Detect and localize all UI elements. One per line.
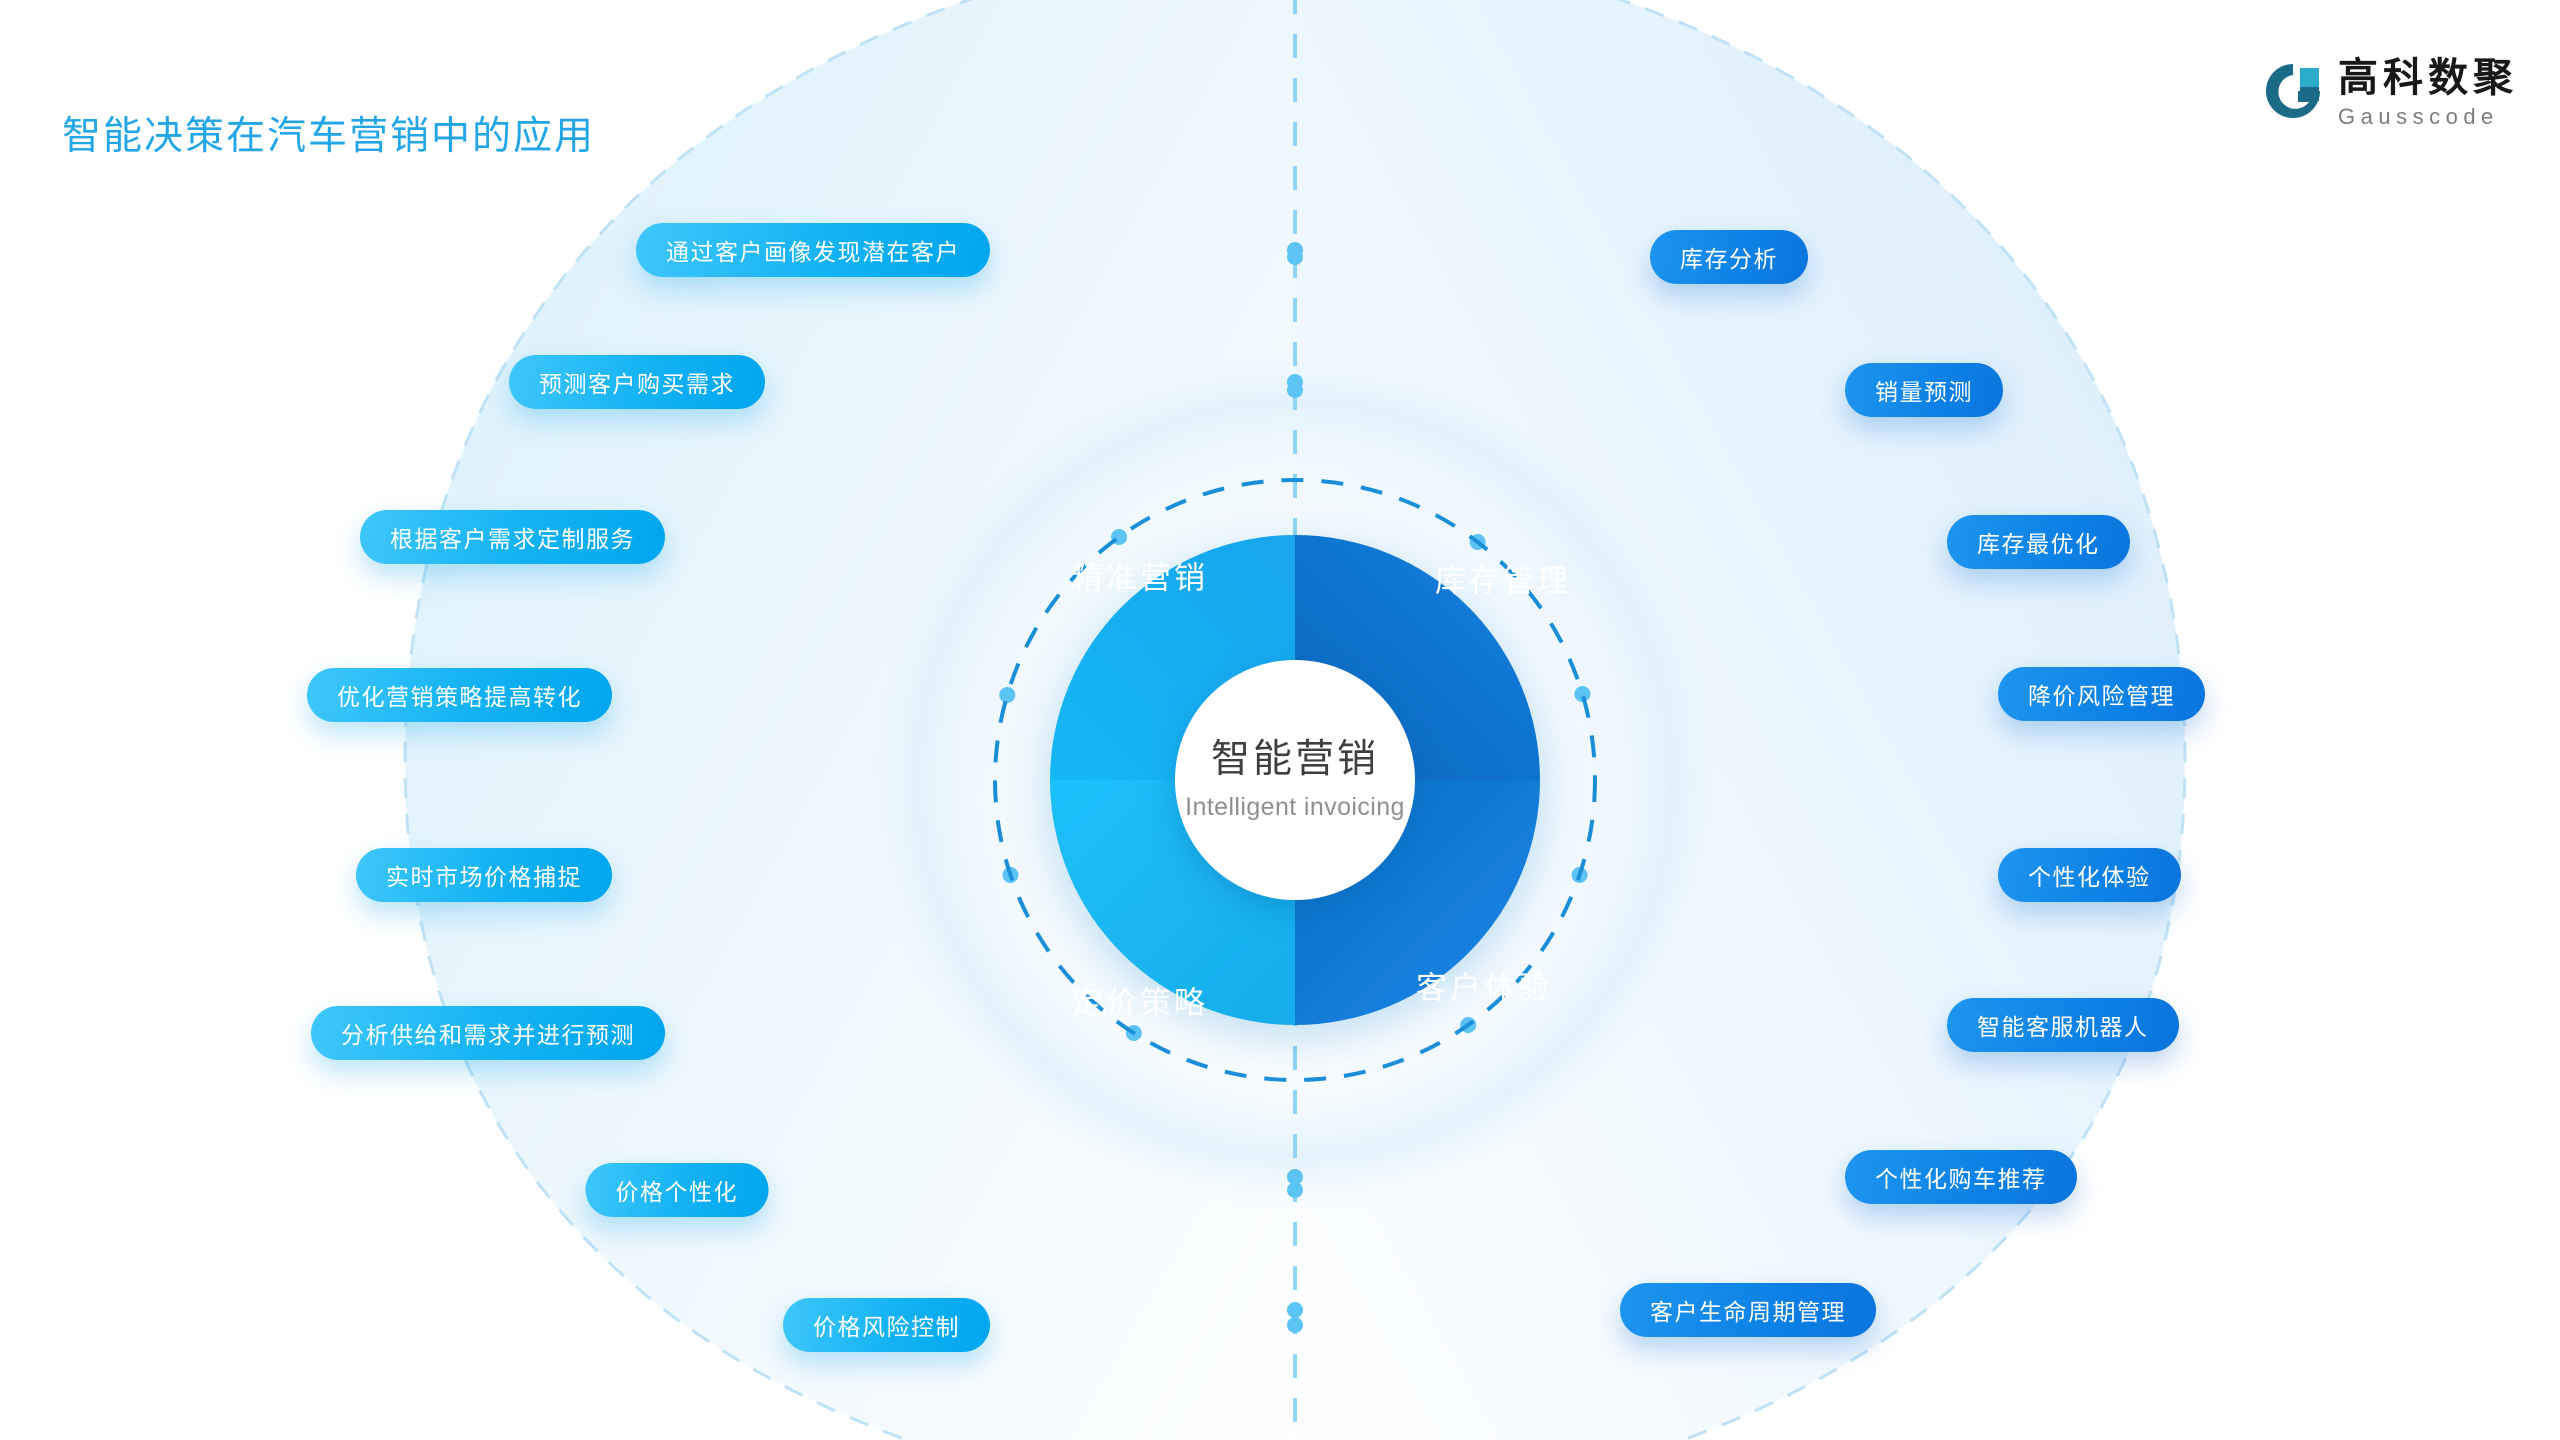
- left-feature-pill[interactable]: 价格风险控制: [783, 1298, 990, 1352]
- right-feature-pill[interactable]: 销量预测: [1845, 363, 2003, 417]
- connector-dot: [1287, 1169, 1303, 1185]
- left-feature-pill[interactable]: 优化营销策略提高转化: [307, 668, 612, 722]
- right-feature-pill[interactable]: 库存分析: [1650, 230, 1808, 284]
- left-feature-pill[interactable]: 根据客户需求定制服务: [360, 510, 665, 564]
- page-title: 智能决策在汽车营销中的应用: [62, 105, 595, 161]
- connector-dot: [1287, 1302, 1303, 1318]
- right-feature-pill[interactable]: 降价风险管理: [1998, 667, 2205, 721]
- logo-company-name-cn: 高科数聚: [2338, 58, 2518, 98]
- quadrant-label-top-right: 库存管理: [1435, 556, 1571, 601]
- gausscode-logo-icon: [2264, 62, 2322, 120]
- connector-dot: [1287, 382, 1303, 398]
- right-feature-pill[interactable]: 个性化购车推荐: [1845, 1150, 2077, 1204]
- left-feature-pill[interactable]: 通过客户画像发现潜在客户: [636, 223, 990, 277]
- right-feature-pill[interactable]: 个性化体验: [1998, 848, 2181, 902]
- hub-circle: [1175, 660, 1415, 900]
- quadrant-label-top-left: 精准营销: [1072, 553, 1208, 598]
- quadrant-label-bottom-left: 定价策略: [1072, 978, 1208, 1023]
- left-feature-pill[interactable]: 价格个性化: [586, 1163, 769, 1217]
- brand-logo: 高科数聚 Gausscode: [2264, 58, 2518, 128]
- quadrant-label-bottom-right: 客户体验: [1416, 963, 1552, 1008]
- connector-dot: [1287, 249, 1303, 265]
- right-feature-pill[interactable]: 智能客服机器人: [1947, 998, 2179, 1052]
- left-feature-pill[interactable]: 分析供给和需求并进行预测: [311, 1006, 665, 1060]
- left-feature-pill[interactable]: 预测客户购买需求: [509, 355, 765, 409]
- connector-dot: [999, 687, 1015, 703]
- left-feature-pill[interactable]: 实时市场价格捕捉: [356, 848, 612, 902]
- logo-company-name-en: Gausscode: [2338, 106, 2518, 128]
- right-feature-pill[interactable]: 库存最优化: [1947, 515, 2130, 569]
- right-feature-pill[interactable]: 客户生命周期管理: [1620, 1283, 1876, 1337]
- infographic-canvas: 智能决策在汽车营销中的应用 高科数聚 Gausscode 智能营销 Intell…: [0, 0, 2560, 1440]
- connector-dot: [1287, 1317, 1303, 1333]
